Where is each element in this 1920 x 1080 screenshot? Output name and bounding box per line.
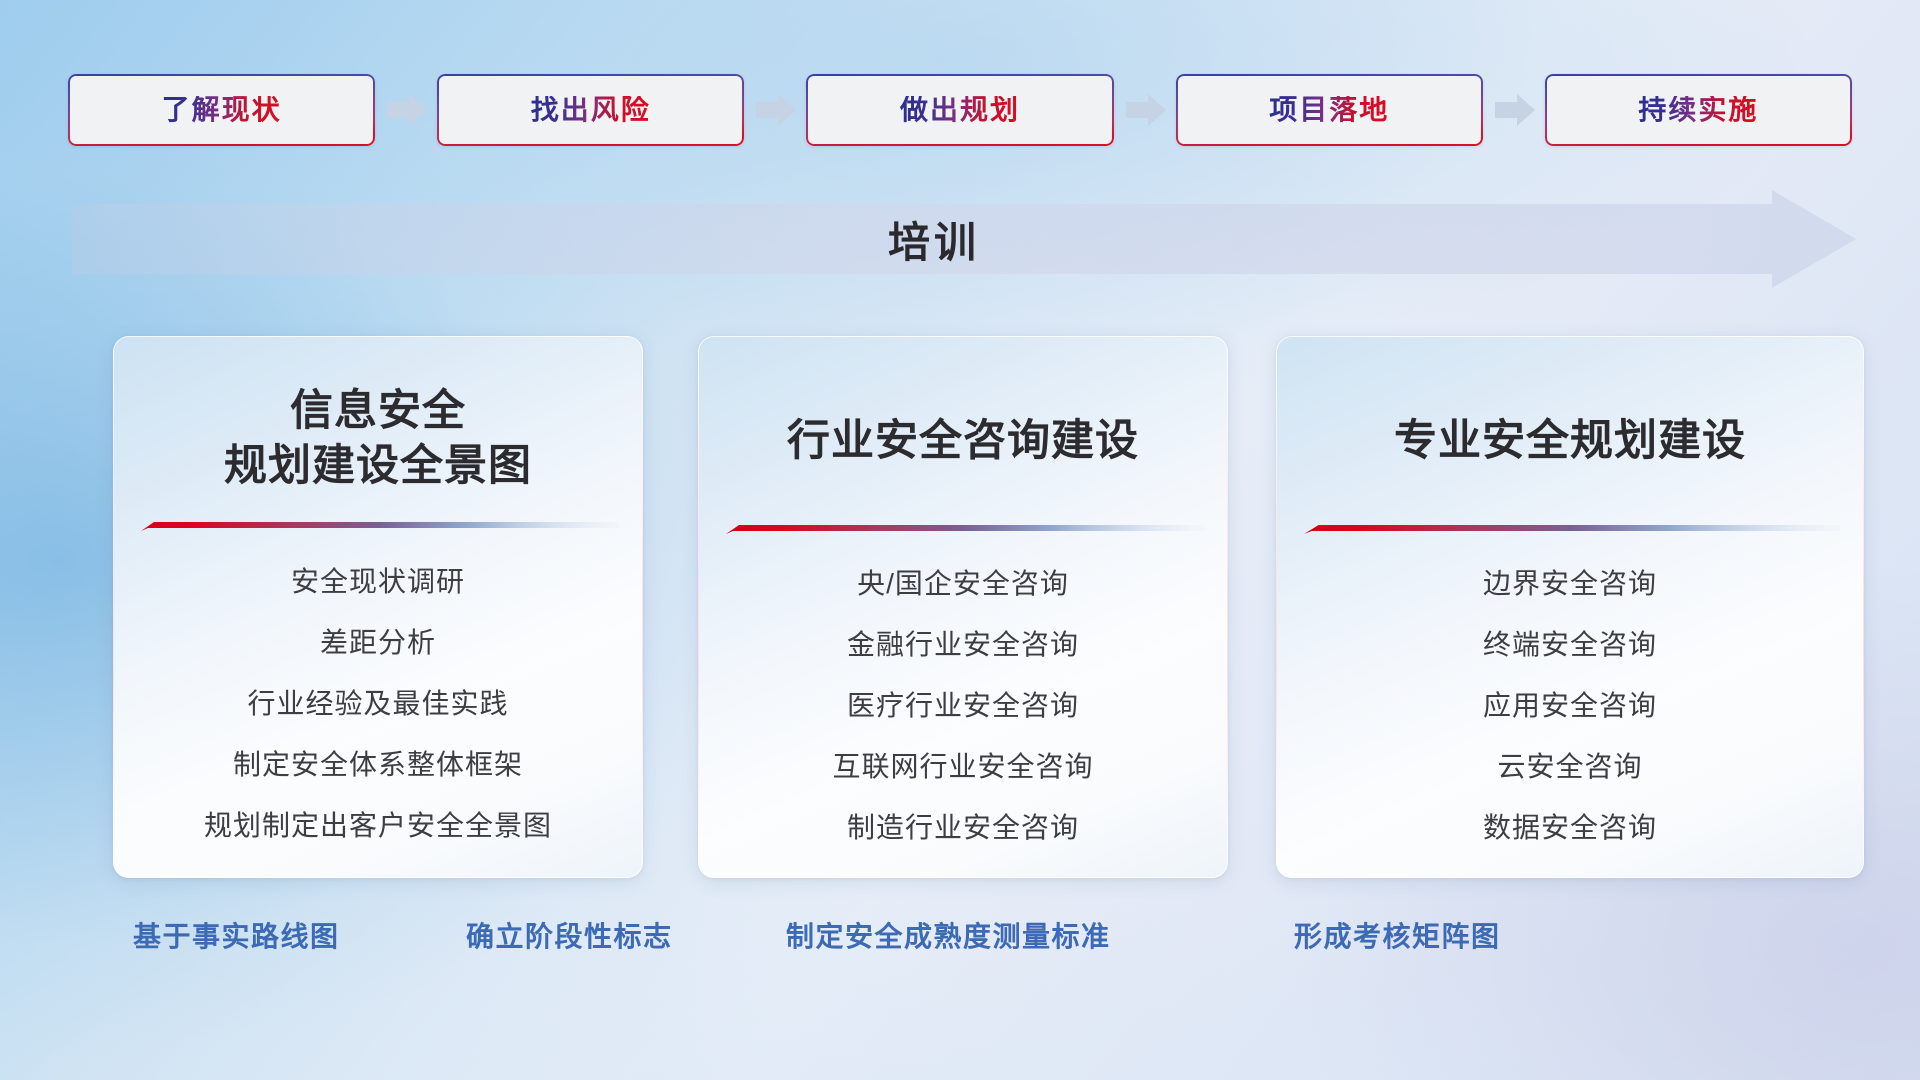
card-title-line: 信息安全 (113, 384, 643, 439)
arrow-right-icon (1114, 89, 1176, 131)
arrow-right-icon (1483, 89, 1545, 131)
card-professional-security-planning[interactable]: 专业安全规划建设 边界安全咨询 (1276, 336, 1864, 878)
card-title-line: 专业安全规划建设 (1276, 414, 1864, 469)
step-label-1: 了解现状 (162, 96, 282, 124)
outcome-captions: 基于事实路线图 确立阶段性标志 制定安全成熟度测量标准 形成考核矩阵图 (0, 915, 1920, 963)
step-box-2[interactable]: 找出风险 (437, 74, 744, 146)
list-item: 安全现状调研 (113, 568, 643, 596)
list-item: 规划制定出客户安全全景图 (113, 812, 643, 840)
card-title-1: 信息安全 规划建设全景图 (113, 384, 643, 494)
arrow-right-icon (744, 89, 806, 131)
card-list-3: 边界安全咨询 终端安全咨询 应用安全咨询 云安全咨询 数据安全咨询 (1276, 570, 1864, 842)
banner-label: 培训 (72, 190, 1856, 288)
list-item: 行业经验及最佳实践 (113, 690, 643, 718)
step-label-2: 找出风险 (531, 96, 651, 124)
list-item: 数据安全咨询 (1276, 814, 1864, 842)
card-divider-2 (726, 524, 1204, 535)
caption-maturity: 制定安全成熟度测量标准 (786, 915, 1111, 960)
list-item: 应用安全咨询 (1276, 692, 1864, 720)
card-divider-1 (141, 521, 619, 532)
caption-matrix: 形成考核矩阵图 (1294, 915, 1501, 960)
list-item: 医疗行业安全咨询 (698, 692, 1228, 720)
process-step-flow: 了解现状 找出风险 做出规划 项目落地 持续实施 (68, 74, 1852, 146)
card-list-2: 央/国企安全咨询 金融行业安全咨询 医疗行业安全咨询 互联网行业安全咨询 制造行… (698, 570, 1228, 842)
card-list-1: 安全现状调研 差距分析 行业经验及最佳实践 制定安全体系整体框架 规划制定出客户… (113, 568, 643, 840)
capability-cards: 信息安全 规划建设全景图 (0, 336, 1920, 878)
list-item: 互联网行业安全咨询 (698, 753, 1228, 781)
list-item: 金融行业安全咨询 (698, 631, 1228, 659)
list-item: 云安全咨询 (1276, 753, 1864, 781)
list-item: 差距分析 (113, 629, 643, 657)
list-item: 边界安全咨询 (1276, 570, 1864, 598)
card-industry-security-consulting[interactable]: 行业安全咨询建设 央/国企安全咨询 (698, 336, 1228, 878)
step-label-3: 做出规划 (900, 96, 1020, 124)
list-item: 制定安全体系整体框架 (113, 751, 643, 779)
step-box-4[interactable]: 项目落地 (1176, 74, 1483, 146)
step-label-5: 持续实施 (1638, 96, 1758, 124)
list-item: 制造行业安全咨询 (698, 814, 1228, 842)
list-item: 终端安全咨询 (1276, 631, 1864, 659)
training-banner: 培训 (72, 190, 1856, 288)
step-label-4: 项目落地 (1269, 96, 1389, 124)
card-title-3: 专业安全规划建设 (1276, 414, 1864, 469)
step-box-1[interactable]: 了解现状 (68, 74, 375, 146)
card-title-2: 行业安全咨询建设 (698, 414, 1228, 469)
card-information-security-blueprint[interactable]: 信息安全 规划建设全景图 (113, 336, 643, 878)
card-divider-3 (1304, 524, 1840, 535)
caption-milestone: 确立阶段性标志 (466, 915, 673, 960)
arrow-right-icon (375, 89, 437, 131)
step-box-5[interactable]: 持续实施 (1545, 74, 1852, 146)
step-box-3[interactable]: 做出规划 (806, 74, 1113, 146)
card-title-line: 规划建设全景图 (113, 439, 643, 494)
list-item: 央/国企安全咨询 (698, 570, 1228, 598)
caption-roadmap: 基于事实路线图 (133, 915, 340, 960)
card-title-line: 行业安全咨询建设 (698, 414, 1228, 469)
